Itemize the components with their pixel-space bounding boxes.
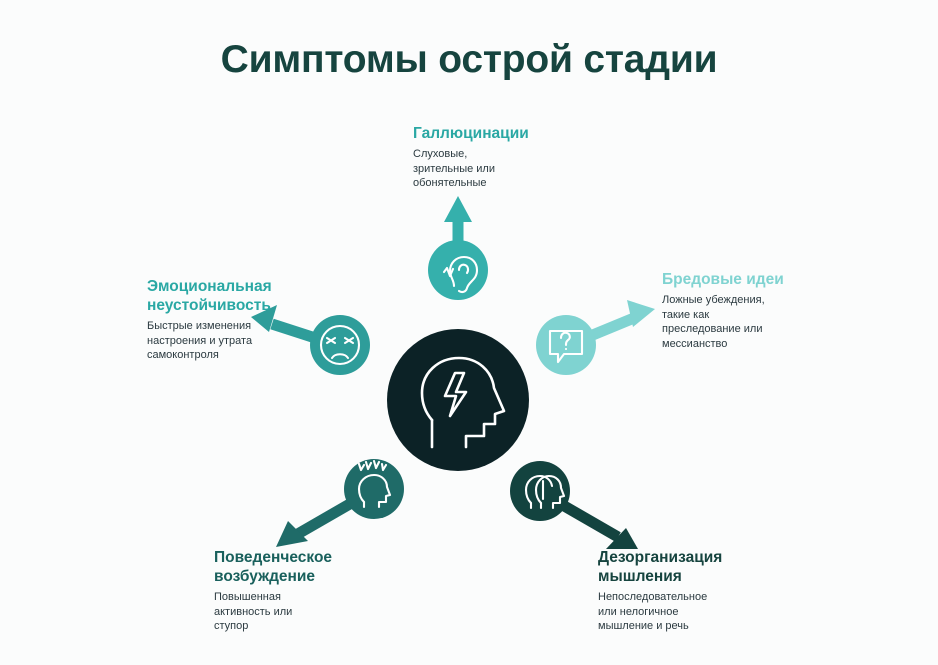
label-delusional-ideas: Бредовые идеи Ложные убеждения, такие ка… <box>662 270 872 351</box>
node-circle-behavioral-agitation <box>344 459 404 519</box>
heading-delusional-ideas: Бредовые идеи <box>662 270 872 289</box>
label-hallucinations: Галлюцинации Слуховые, зрительные или об… <box>413 124 613 191</box>
heading-behavioral-agitation: Поведенческое возбуждение <box>214 548 424 586</box>
description-behavioral-agitation: Повышенная активность или ступор <box>214 590 424 634</box>
heading-hallucinations: Галлюцинации <box>413 124 613 143</box>
center-node[interactable] <box>387 329 529 471</box>
node-behavioral-agitation[interactable] <box>344 459 404 519</box>
node-disorganized-thinking[interactable] <box>510 461 570 521</box>
center-circle <box>387 329 529 471</box>
description-disorganized-thinking: Непоследовательное или нелогичное мышлен… <box>598 590 813 634</box>
label-emotional-instability: Эмоциональная неустойчивость Быстрые изм… <box>147 277 357 363</box>
description-hallucinations: Слуховые, зрительные или обонятельные <box>413 147 613 191</box>
node-circle-disorganized-thinking <box>510 461 570 521</box>
label-disorganized-thinking: Дезорганизация мышления Непоследовательн… <box>598 548 813 634</box>
label-behavioral-agitation: Поведенческое возбуждение Повышенная акт… <box>214 548 424 634</box>
node-hallucinations[interactable] <box>428 240 488 300</box>
node-delusional-ideas[interactable] <box>536 315 596 375</box>
heading-emotional-instability: Эмоциональная неустойчивость <box>147 277 357 315</box>
description-emotional-instability: Быстрые изменения настроения и утрата са… <box>147 319 357 363</box>
infographic-canvas: Симптомы острой стадии <box>0 0 938 665</box>
heading-disorganized-thinking: Дезорганизация мышления <box>598 548 813 586</box>
description-delusional-ideas: Ложные убеждения, такие как преследовани… <box>662 293 872 351</box>
